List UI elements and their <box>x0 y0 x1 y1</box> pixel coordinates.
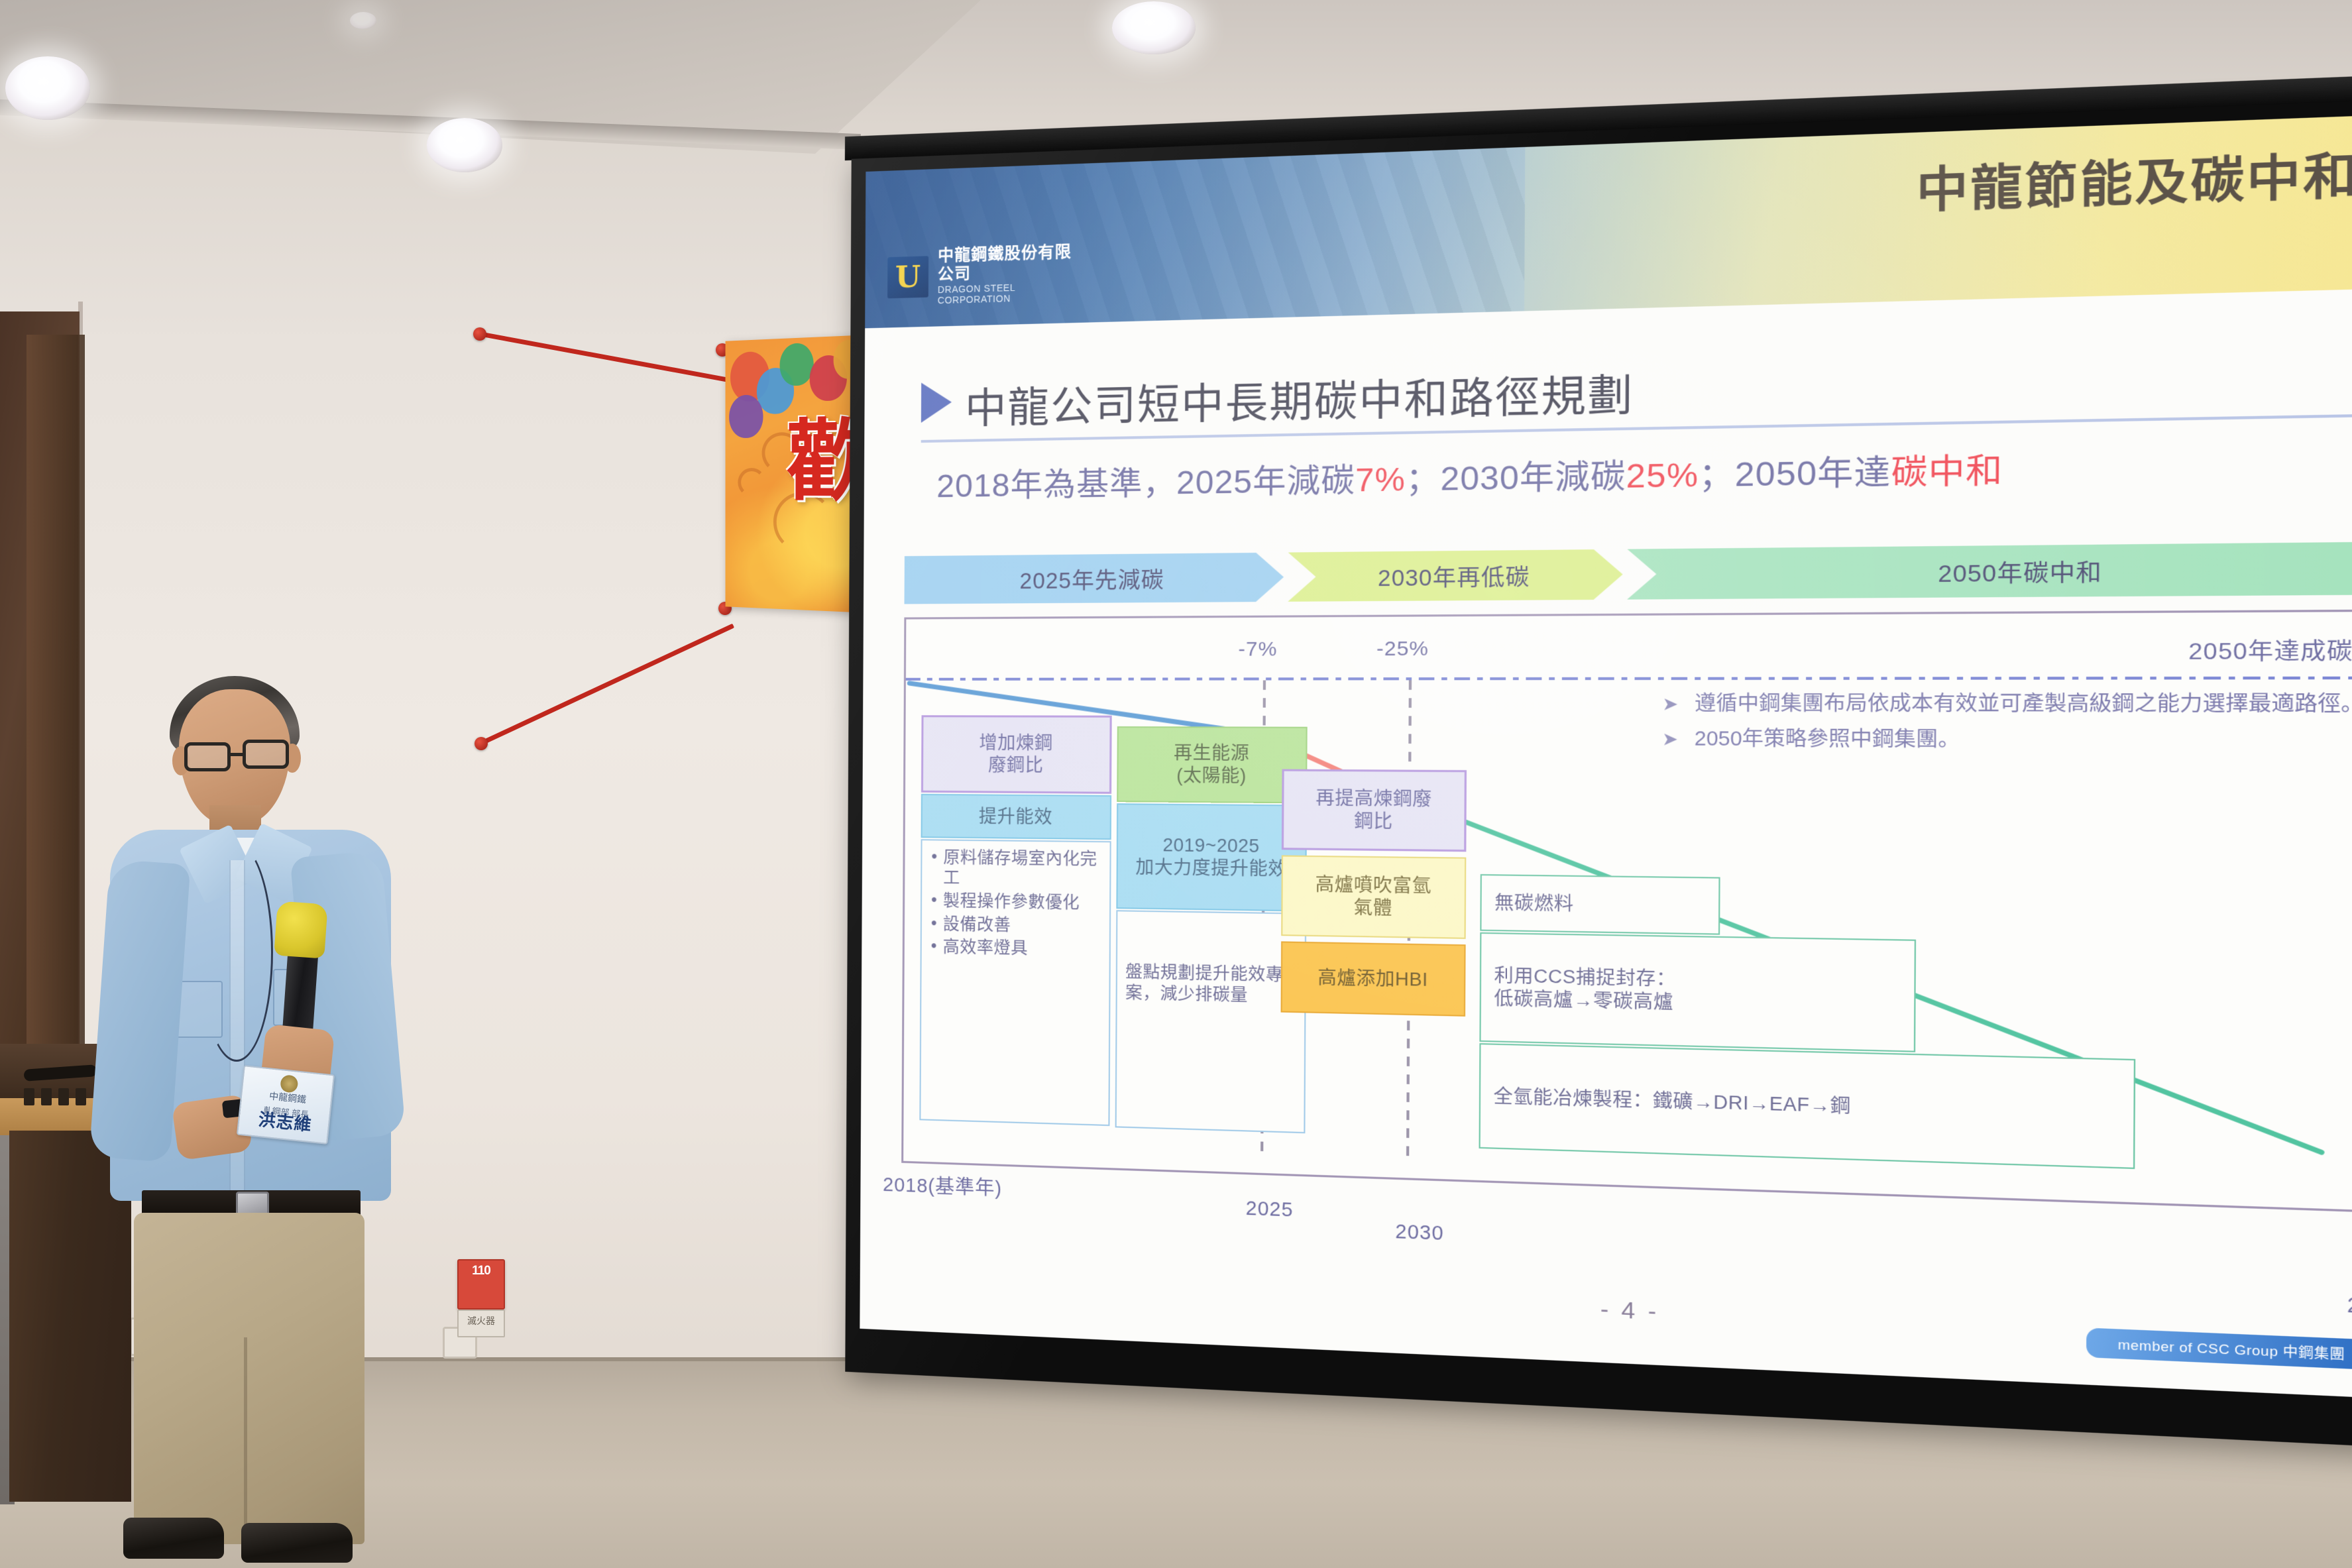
ceiling-downlight-icon <box>5 56 90 120</box>
csc-group-badge: member of CSC Group 中鋼集團 <box>2087 1327 2352 1369</box>
podium-clip <box>76 1088 86 1105</box>
phase-chevron-2030: 2030年再低碳 <box>1288 549 1623 602</box>
fire-extinguisher-sign: 110 <box>457 1259 505 1310</box>
ceiling-downlight-icon <box>427 118 502 172</box>
xaxis-label-2025: 2025 <box>1246 1198 1294 1222</box>
logo-name-cn: 中龍鋼鐵股份有限公司 <box>938 243 1088 284</box>
podium-clip <box>58 1088 69 1105</box>
phase-chevron-2025: 2025年先減碳 <box>905 553 1284 604</box>
subtitle-highlight-7pct: 7% <box>1355 462 1406 499</box>
slide-header-title: 中龍節能及碳中和規劃 <box>1916 131 2352 221</box>
subtitle-seg: ；2050年達 <box>1699 454 1891 494</box>
box-renewable-energy: 再生能源 (太陽能) <box>1117 726 1307 803</box>
roadmap-chart-panel: -7% -25% 2050年達成碳中和 增加煉鋼 廢鋼比 再生能源 (太陽能) <box>901 609 2352 1214</box>
name-badge: 中龍鋼鐵 軋鋼部 部長 洪志維 <box>237 1065 335 1145</box>
box-zero-carbon-fuel: 無碳燃料 <box>1480 874 1720 935</box>
strategy-note: 遵循中鋼集團布局依成本有效並可產製高級鋼之能力選擇最適路徑。 <box>1656 691 2352 719</box>
subtitle-highlight-25pct: 25% <box>1626 457 1699 496</box>
efficiency-item: 高效率燈具 <box>928 936 1104 960</box>
festive-wall-banner: 歡 <box>726 335 870 613</box>
subtitle-highlight-neutral: 碳中和 <box>1891 452 2003 492</box>
speaker-shoe <box>123 1518 224 1559</box>
microphone-windscreen-icon <box>274 901 328 958</box>
efficiency-item-list: 原料儲存場室內化完工 製程操作參數優化 設備改善 高效率燈具 <box>922 840 1110 963</box>
podium-clip <box>24 1088 34 1105</box>
baseline-dashdot-line <box>906 677 2352 681</box>
efficiency-item: 製程操作參數優化 <box>928 891 1104 914</box>
subtitle-seg: 2018年為基準，2025年減碳 <box>936 463 1355 504</box>
label-2025-reduction: -7% <box>1238 638 1277 661</box>
lanyard <box>200 843 273 1062</box>
box-blast-furnace-hbi: 高爐添加HBI <box>1281 941 1466 1016</box>
wood-wall-panel-inner <box>27 335 85 1064</box>
xaxis-label-2050: 2050 <box>2347 1294 2352 1320</box>
projection-screen: U 中龍鋼鐵股份有限公司 DRAGON STEEL CORPORATION 中龍… <box>845 95 2352 1453</box>
efficiency-item: 設備改善 <box>928 913 1104 936</box>
presentation-room-photo: 110 滅火器 歡 <box>0 0 2352 1568</box>
eyeglasses-icon <box>243 740 289 769</box>
box-2019-2025-plan-header: 2019~2025 加大力度提升能效 <box>1116 803 1307 911</box>
ceiling-downlight-icon <box>350 12 376 29</box>
cord-pin-icon <box>475 737 488 750</box>
podium-clip <box>41 1088 52 1105</box>
speaker-shoe <box>241 1523 353 1563</box>
box-ccs-capture: 利用CCS捕捉封存： 低碳高爐→零碳高爐 <box>1479 932 1916 1052</box>
efficiency-item: 原料儲存場室內化完工 <box>928 847 1104 890</box>
xaxis-label-base: 2018(基準年) <box>883 1169 1002 1202</box>
box-increase-scrap-ratio: 增加煉鋼 廢鋼比 <box>921 715 1112 794</box>
trouser-seam <box>244 1337 247 1544</box>
slide-title: 中龍公司短中長期碳中和路徑規劃 <box>965 360 1634 435</box>
eyeglasses-icon <box>184 742 231 771</box>
triangle-bullet-icon <box>921 382 952 423</box>
box-hydrogen-injection: 高爐噴吹富氫 氣體 <box>1281 855 1466 938</box>
box-hydrogen-process: 全氫能冶煉製程：鐵礦→DRI→EAF→鋼 <box>1479 1043 2136 1169</box>
screen-surface: U 中龍鋼鐵股份有限公司 DRAGON STEEL CORPORATION 中龍… <box>860 111 2352 1403</box>
phase-chevron-row: 2025年先減碳 2030年再低碳 2050年碳中和 <box>905 541 2352 604</box>
fire-extinguisher-sign-sub: 滅火器 <box>457 1310 505 1337</box>
xaxis-label-2030: 2030 <box>1395 1221 1443 1245</box>
ceiling-downlight-icon <box>1112 1 1196 54</box>
dragon-steel-logo-icon: U <box>887 256 928 298</box>
slide-title-row: 中龍公司短中長期碳中和路徑規劃 2018年為基準，2025年減碳7%；2030年… <box>921 342 2352 376</box>
eyeglasses-bridge <box>229 753 243 756</box>
presentation-slide: U 中龍鋼鐵股份有限公司 DRAGON STEEL CORPORATION 中龍… <box>860 111 2352 1403</box>
label-2030-reduction: -25% <box>1376 638 1429 661</box>
label-2050-neutral: 2050年達成碳中和 <box>2188 632 2352 667</box>
slide-subtitle: 2018年為基準，2025年減碳7%；2030年減碳25%；2050年達碳中和 <box>936 442 2003 506</box>
box-2019-2025-plan-body: 盤點規劃提升能效專案，減少排碳量 <box>1115 910 1307 1133</box>
speaker-trousers <box>134 1213 364 1544</box>
strategy-notes: 遵循中鋼集團布局依成本有效並可產製高級鋼之能力選擇最適路徑。 2050年策略參照… <box>1656 691 2352 764</box>
strategy-note: 2050年策略參照中鋼集團。 <box>1656 726 2352 756</box>
company-logo: U 中龍鋼鐵股份有限公司 DRAGON STEEL CORPORATION <box>887 246 1088 304</box>
subtitle-seg: ；2030年減碳 <box>1406 458 1626 498</box>
cord-pin-icon <box>473 327 486 341</box>
phase-chevron-2050: 2050年碳中和 <box>1627 541 2352 600</box>
logo-name-en: DRAGON STEEL CORPORATION <box>938 280 1088 306</box>
speaker-figure: 中龍鋼鐵 軋鋼部 部長 洪志維 <box>93 669 411 1557</box>
box-efficiency-items: 原料儲存場室內化完工 製程操作參數優化 設備改善 高效率燈具 <box>919 839 1111 1126</box>
page-number: - 4 - <box>1600 1296 1659 1326</box>
box-efficiency-header: 提升能效 <box>921 794 1111 840</box>
box-raise-scrap-ratio: 再提高煉鋼廢 鋼比 <box>1282 769 1467 852</box>
